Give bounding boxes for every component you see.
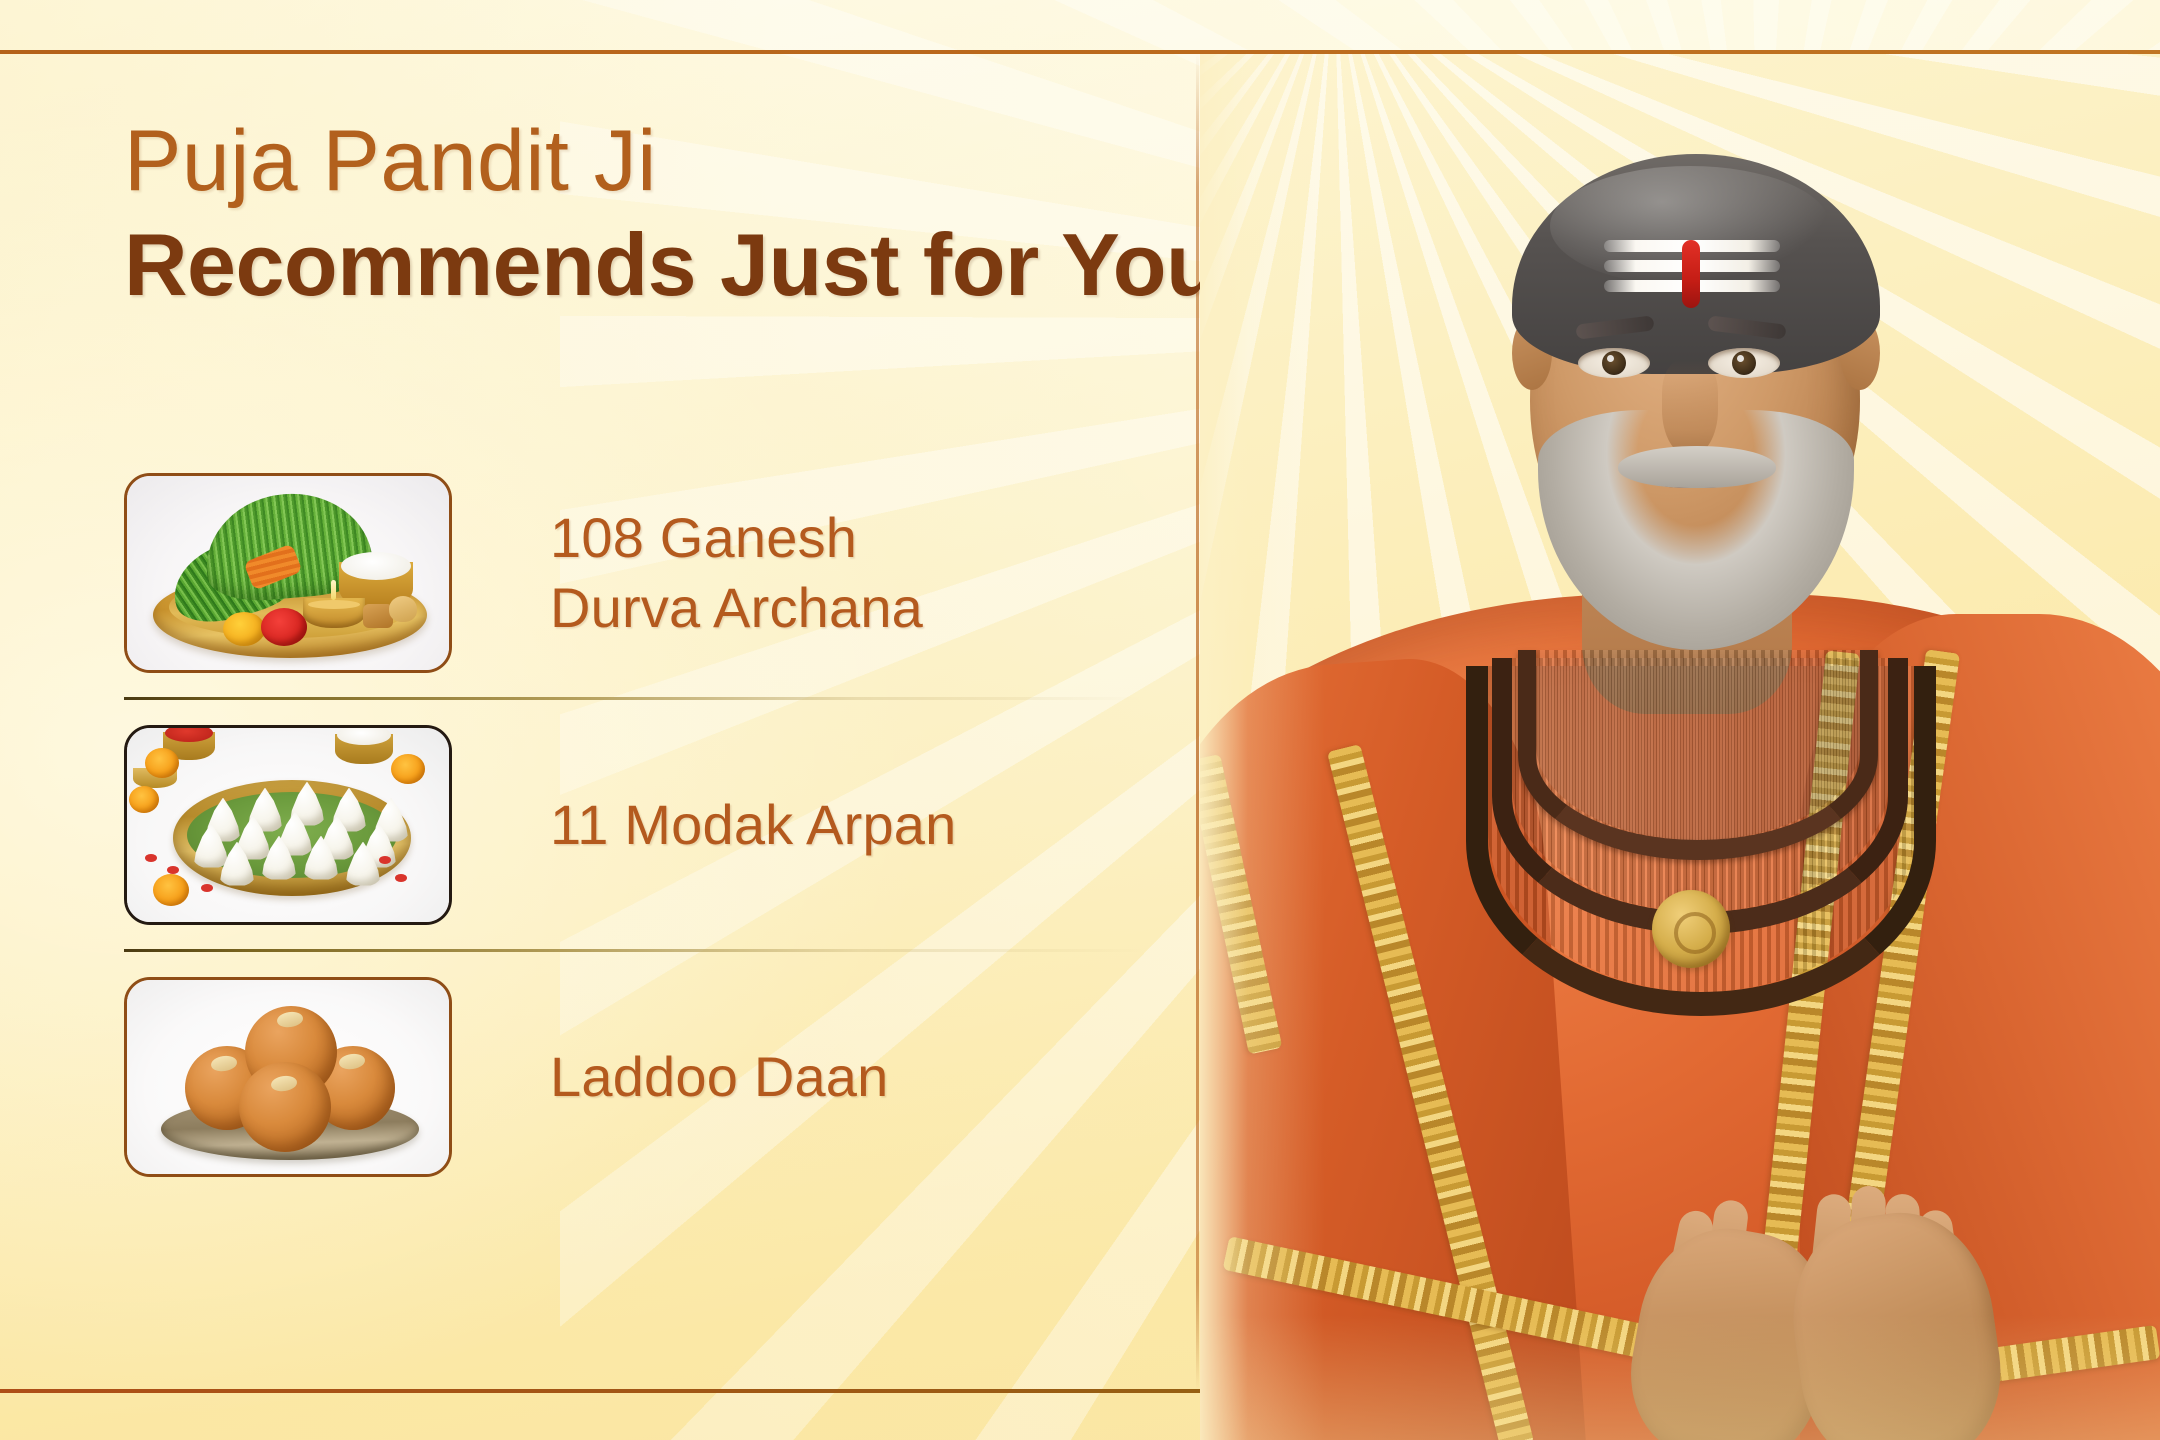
list-item[interactable]: 108 Ganesh Durva Archana (124, 470, 1144, 675)
gold-pendant-icon (1652, 890, 1730, 968)
list-item-label: Laddoo Daan (550, 1042, 889, 1111)
list-item-label-line-1: 11 Modak Arpan (550, 793, 956, 856)
list-separator (124, 949, 1144, 952)
banner-canvas: Puja Pandit Ji Recommends Just for You (0, 0, 2160, 1440)
moustache (1618, 446, 1776, 488)
list-separator (124, 697, 1144, 700)
list-item[interactable]: Laddoo Daan (124, 974, 1144, 1179)
eye-left (1578, 348, 1650, 378)
list-item-label-line-2: Durva Archana (550, 573, 923, 642)
list-item-label: 108 Ganesh Durva Archana (550, 503, 923, 642)
list-item-label: 11 Modak Arpan (550, 790, 956, 859)
eye-right (1708, 348, 1780, 378)
headline-line-1: Puja Pandit Ji (124, 118, 1164, 204)
page-title: Puja Pandit Ji Recommends Just for You (124, 118, 1164, 310)
laddoo-plate-image (124, 977, 452, 1177)
recommendation-list: 108 Ganesh Durva Archana (124, 470, 1144, 1179)
list-item-label-line-1: Laddoo Daan (550, 1045, 889, 1108)
rudraksha-mala-icon (1518, 650, 1878, 860)
list-item[interactable]: 11 Modak Arpan (124, 722, 1144, 927)
modak-tray-image (124, 725, 452, 925)
list-item-label-line-1: 108 Ganesh (550, 506, 857, 569)
red-tilak-icon (1682, 240, 1700, 308)
pandit-portrait-image (1200, 54, 2160, 1440)
puja-thali-durva-grass-image (124, 473, 452, 673)
headline-line-2: Recommends Just for You (124, 220, 1164, 310)
